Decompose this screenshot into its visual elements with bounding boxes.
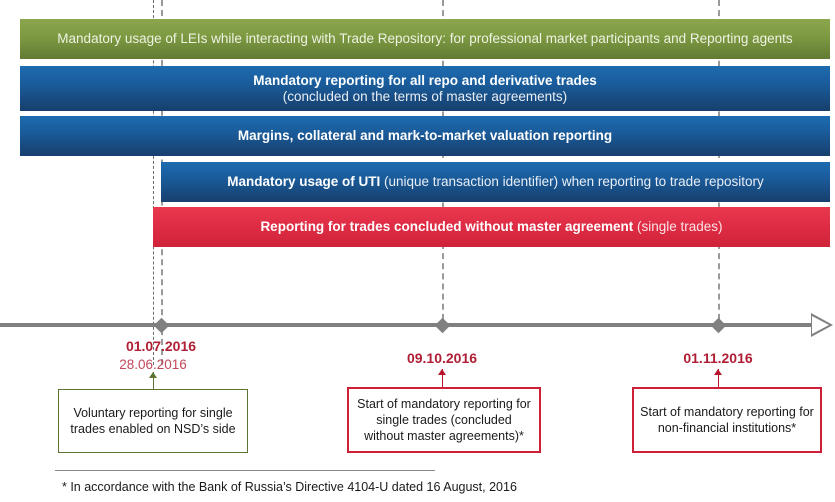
callout-start-mandatory-single-trades-text: Start of mandatory reporting for single … xyxy=(355,396,533,444)
date-label-09-10-2016: 09.10.2016 xyxy=(407,350,477,366)
timeline-marker-01-07-2016 xyxy=(153,317,169,333)
timeline-marker-09-10-2016 xyxy=(434,317,450,333)
bar-label-emphasis: Mandatory usage of UTI xyxy=(227,174,380,189)
timeline-infographic: Mandatory usage of LEIs while interactin… xyxy=(0,0,835,502)
callout-start-mandatory-single-trades-connector-arrow xyxy=(438,369,446,375)
callout-start-mandatory-non-financial-connector-arrow xyxy=(714,369,722,375)
bar-label-emphasis: Reporting for trades concluded without m… xyxy=(260,219,633,234)
callout-start-mandatory-single-trades[interactable]: Start of mandatory reporting for single … xyxy=(347,387,541,453)
footnote-divider xyxy=(55,470,435,471)
bar-label: Reporting for trades concluded without m… xyxy=(260,219,722,235)
timeline-axis-line xyxy=(0,323,813,327)
bar-label-text: Mandatory usage of LEIs while interactin… xyxy=(57,31,792,46)
bar-label: Mandatory usage of LEIs while interactin… xyxy=(57,31,792,47)
bar-label: Mandatory reporting for all repo and der… xyxy=(253,73,597,105)
bar-lei-usage: Mandatory usage of LEIs while interactin… xyxy=(20,19,830,59)
callout-start-mandatory-non-financial-text: Start of mandatory reporting for non-fin… xyxy=(640,404,814,436)
timeline-arrowhead-inner xyxy=(812,316,829,334)
date-label-28-06-2016: 28.06.2016 xyxy=(119,357,187,372)
date-label-01-11-2016: 01.11.2016 xyxy=(683,350,752,366)
bar-label-text: (unique transaction identifier) when rep… xyxy=(380,174,763,189)
bar-label-emphasis: Margins, collateral and mark-to-market v… xyxy=(238,128,612,143)
bar-mandatory-reporting-repo-derivative: Mandatory reporting for all repo and der… xyxy=(20,66,830,111)
callout-start-mandatory-non-financial[interactable]: Start of mandatory reporting for non-fin… xyxy=(632,387,822,453)
bar-reporting-trades-without-master-agreement: Reporting for trades concluded without m… xyxy=(153,207,830,247)
callout-voluntary-reporting[interactable]: Voluntary reporting for single trades en… xyxy=(58,389,248,453)
footnote-text: * In accordance with the Bank of Russia’… xyxy=(62,480,517,494)
callout-voluntary-reporting-text: Voluntary reporting for single trades en… xyxy=(65,405,241,437)
bar-label: Margins, collateral and mark-to-market v… xyxy=(238,128,612,144)
bar-margins-collateral-mtm: Margins, collateral and mark-to-market v… xyxy=(20,116,830,156)
bar-mandatory-usage-uti: Mandatory usage of UTI (unique transacti… xyxy=(161,162,830,202)
bar-label-text: (single trades) xyxy=(633,219,722,234)
bar-label-subtext: (concluded on the terms of master agreem… xyxy=(283,89,567,104)
bar-label-emphasis: Mandatory reporting for all repo and der… xyxy=(253,73,597,88)
bar-label: Mandatory usage of UTI (unique transacti… xyxy=(227,174,763,190)
timeline-marker-01-11-2016 xyxy=(710,317,726,333)
date-label-01-07-2016: 01.07.2016 xyxy=(126,338,196,354)
callout-voluntary-reporting-connector-arrow xyxy=(149,372,157,378)
